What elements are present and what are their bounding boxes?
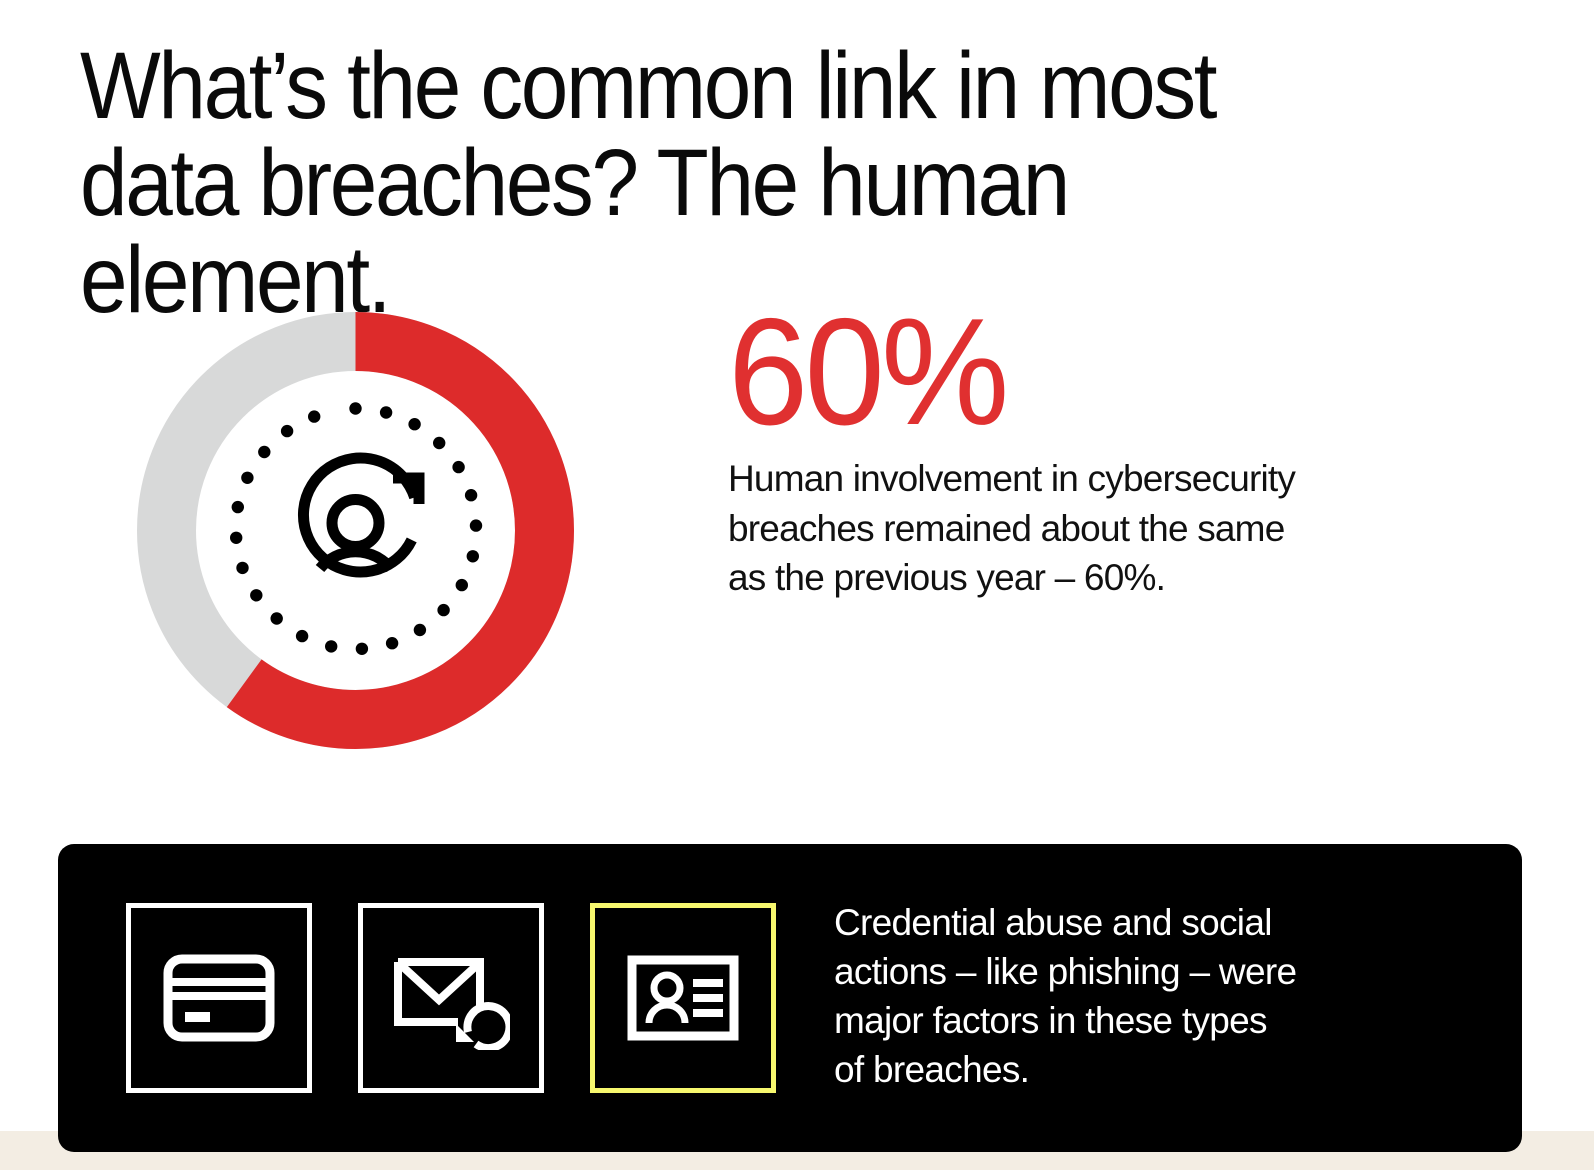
donut-chart [137, 312, 574, 749]
credit-card-icon [163, 954, 275, 1042]
id-badge-icon [627, 955, 739, 1041]
page-title: What’s the common link in most data brea… [80, 38, 1376, 329]
stat-block: 60% Human involvement in cybersecurity b… [728, 300, 1488, 602]
stat-description: Human involvement in cybersecurity breac… [728, 454, 1468, 602]
credit-card-icon-box[interactable] [126, 903, 312, 1093]
email-refresh-icon-box[interactable] [358, 903, 544, 1093]
panel-icon-row [126, 903, 776, 1093]
user-refresh-icon [296, 451, 422, 579]
stat-value: 60% [728, 300, 1450, 444]
breach-types-panel: Credential abuse and social actions – li… [58, 844, 1522, 1152]
id-badge-icon-box[interactable] [590, 903, 776, 1093]
email-refresh-icon [392, 946, 510, 1050]
infographic-page: What’s the common link in most data brea… [0, 0, 1594, 1170]
panel-description: Credential abuse and social actions – li… [834, 898, 1296, 1095]
dotted-ring [230, 402, 482, 655]
